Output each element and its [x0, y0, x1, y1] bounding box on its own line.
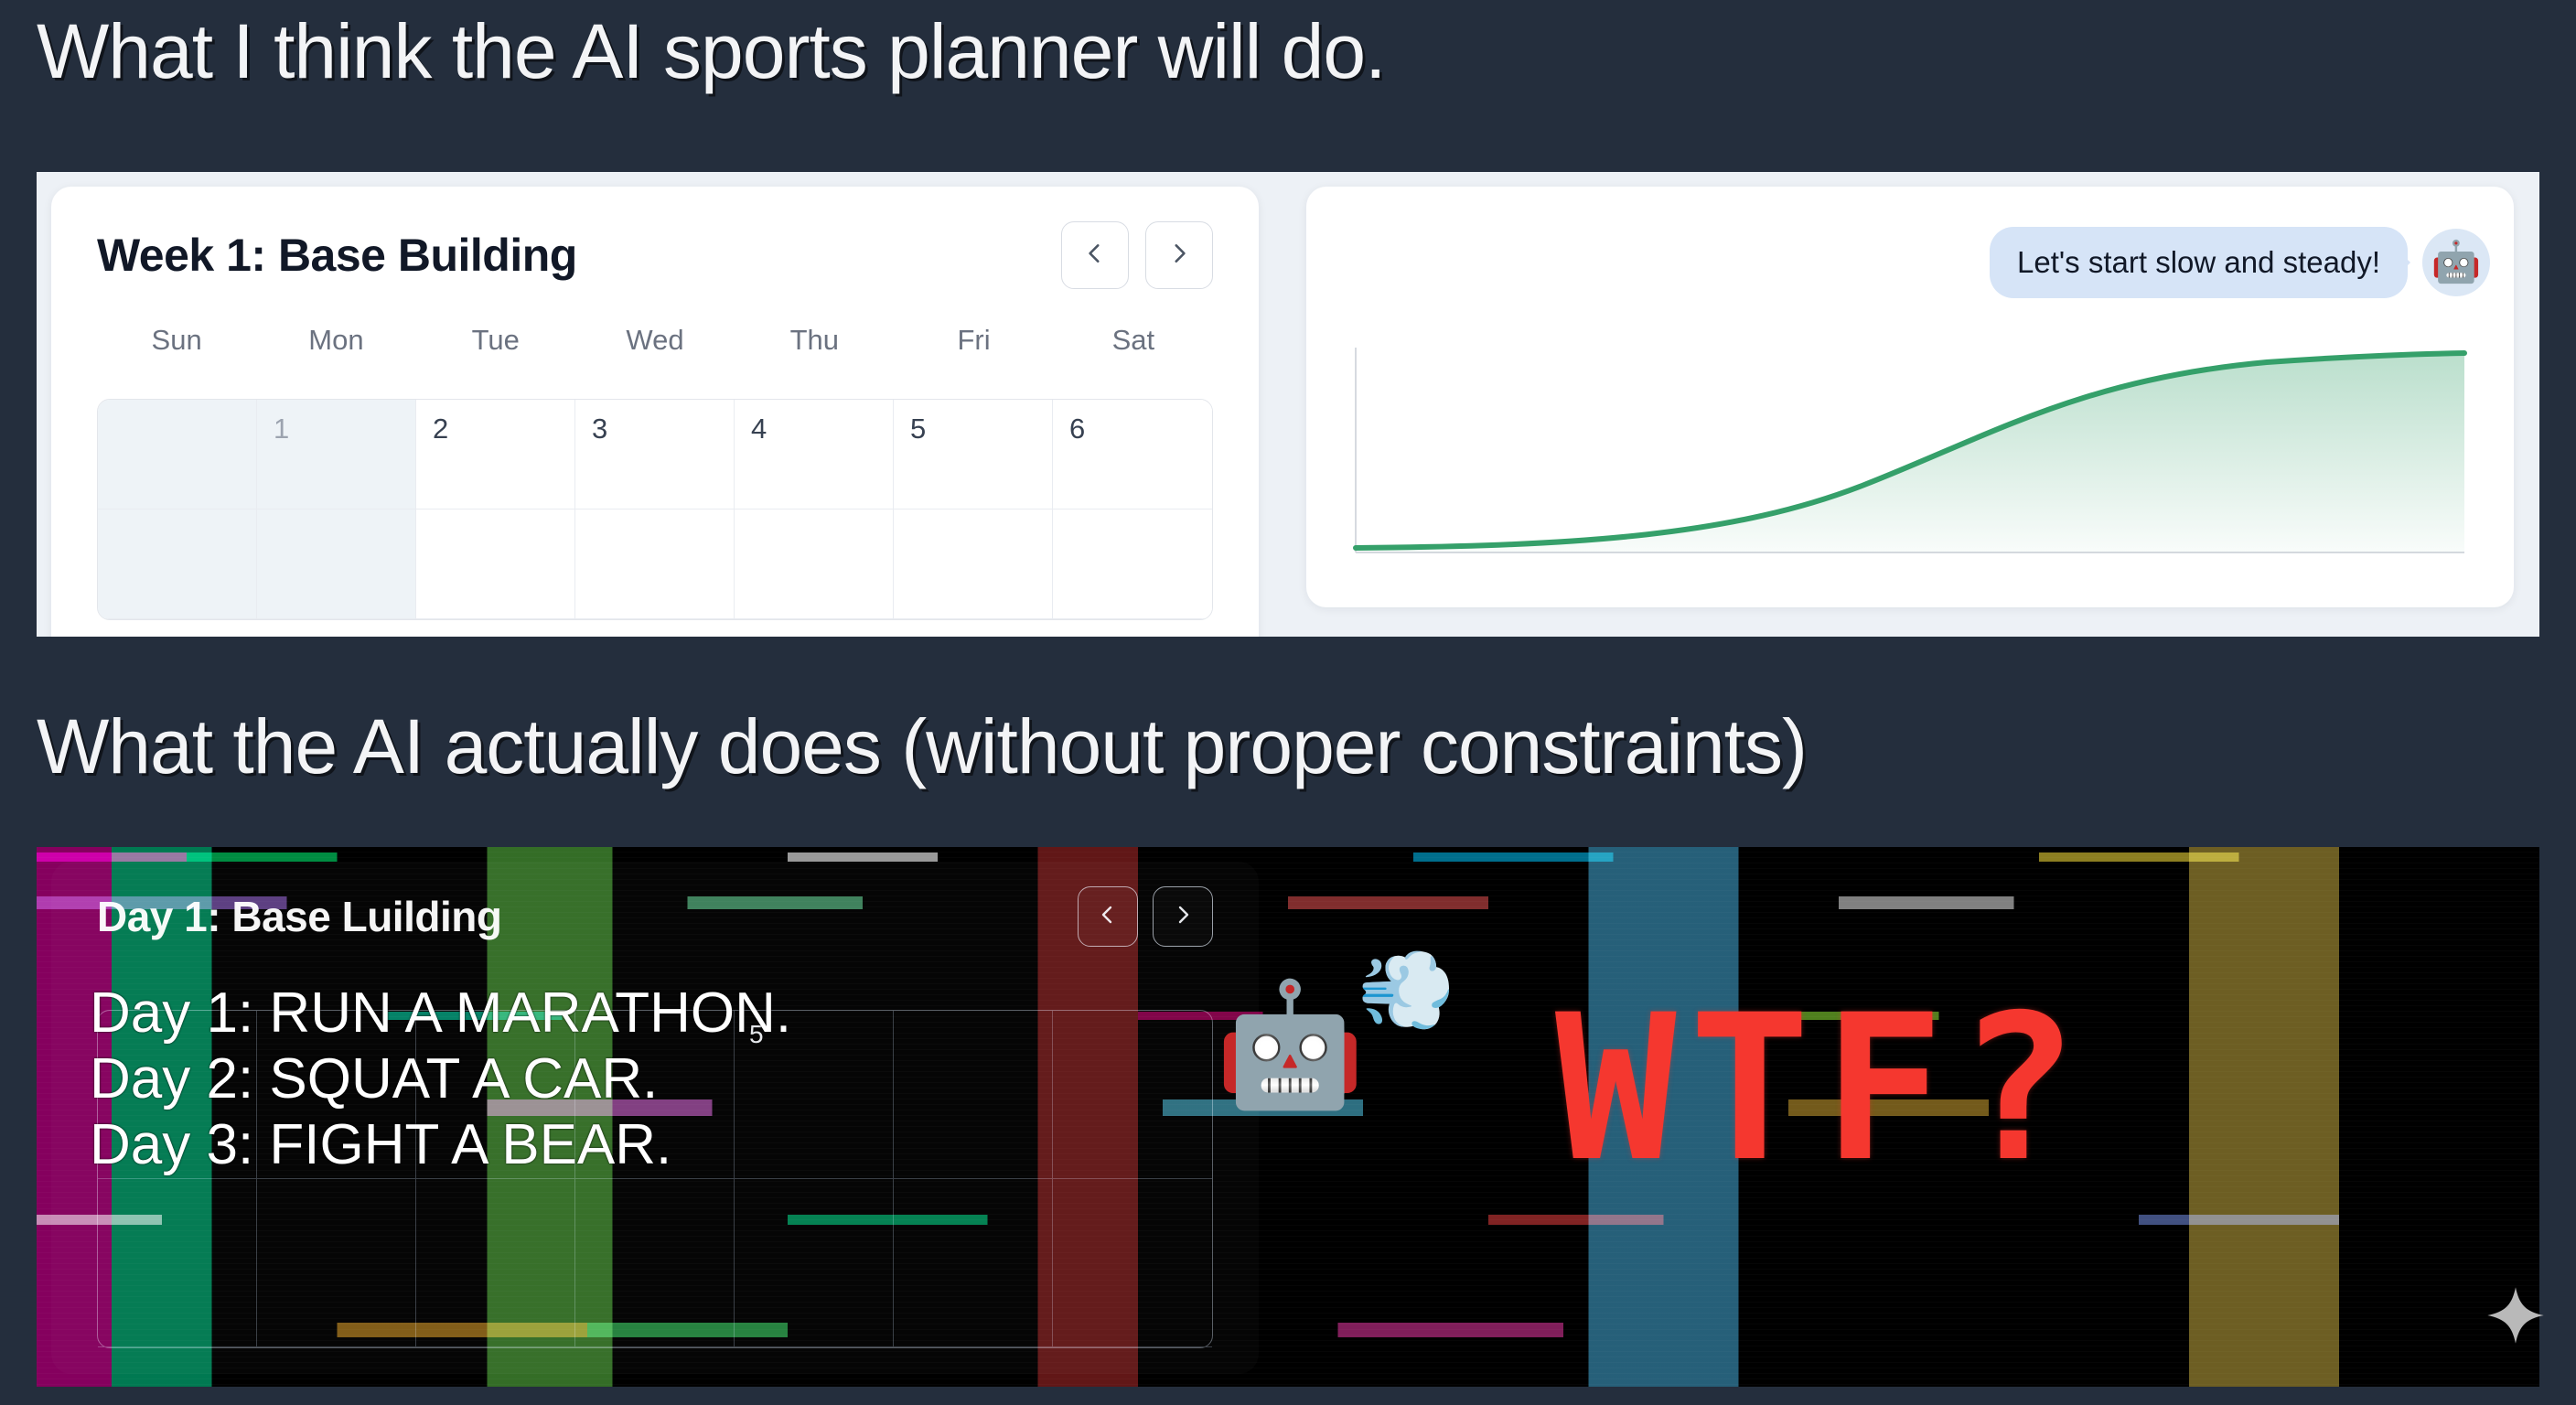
day-cell[interactable] — [575, 509, 735, 619]
day-cell[interactable] — [416, 509, 575, 619]
day-cell[interactable] — [894, 1179, 1053, 1347]
day-cell[interactable] — [1053, 509, 1212, 619]
calendar-nav-group — [1061, 221, 1213, 289]
day-cell[interactable]: 3 — [575, 400, 735, 509]
weekday-label: Wed — [575, 324, 735, 377]
chart-area-fill — [1356, 353, 2464, 552]
chevron-left-icon — [1097, 904, 1119, 930]
weekday-header-row: Sun Mon Tue Wed Thu Fri Sat — [97, 324, 1213, 377]
calendar-day-grid: 1 2 3 4 5 6 — [97, 399, 1213, 620]
weekday-label: Sat — [1054, 324, 1213, 377]
weekday-label: Fri — [894, 324, 1053, 377]
progress-chart-card: Let's start slow and steady! 🤖 — [1306, 187, 2514, 607]
robot-icon: 🤖 — [1215, 984, 1365, 1105]
training-progress-chart — [1352, 348, 2468, 563]
day-cell[interactable] — [894, 509, 1053, 619]
dash-smoke-icon: 💨 — [1358, 951, 1455, 1030]
day-cell[interactable] — [1053, 1179, 1212, 1347]
top-heading: What I think the AI sports planner will … — [37, 7, 1385, 96]
calendar-header: Week 1: Base Building — [51, 187, 1259, 324]
wtf-text: WTF? — [1555, 988, 2091, 1189]
day-cell[interactable] — [735, 509, 894, 619]
chevron-right-icon — [1172, 904, 1194, 930]
chevron-left-icon — [1083, 241, 1107, 270]
absurd-day-list: Day 1: RUN A MARATHON. Day 2: SQUAT A CA… — [90, 984, 791, 1182]
day-list-item: Day 1: RUN A MARATHON. — [90, 984, 791, 1043]
day-cell[interactable]: 4 — [735, 400, 894, 509]
glitch-scanline — [37, 853, 2539, 862]
day-cell[interactable] — [1053, 1011, 1212, 1179]
sparkle-icon — [2486, 1286, 2545, 1345]
weekday-label: Sun — [97, 324, 256, 377]
day-cell[interactable] — [894, 1011, 1053, 1179]
prev-week-button[interactable] — [1061, 221, 1129, 289]
weekday-label: Mon — [256, 324, 415, 377]
day-cell[interactable]: 5 — [894, 400, 1053, 509]
day-cell[interactable]: 1 — [257, 400, 416, 509]
meme-page: What I think the AI sports planner will … — [0, 0, 2576, 1405]
day-cell[interactable] — [257, 509, 416, 619]
glitched-nav-group — [1078, 886, 1213, 947]
robot-icon: 🤖 — [2422, 229, 2490, 296]
weekday-label: Tue — [416, 324, 575, 377]
assistant-chat-bubble: Let's start slow and steady! — [1990, 227, 2408, 298]
day-cell[interactable] — [735, 1179, 894, 1347]
glitched-calendar-title: Day 1: Base Luilding — [97, 892, 501, 941]
next-week-button[interactable] — [1145, 221, 1213, 289]
next-week-button[interactable] — [1153, 886, 1213, 947]
calendar-title: Week 1: Base Building — [97, 229, 577, 282]
weekday-label: Thu — [735, 324, 894, 377]
glitched-screenshot-panel: Day 1: Base Luilding — [37, 847, 2539, 1387]
bottom-heading: What the AI actually does (without prope… — [37, 702, 1807, 791]
assistant-message-row: Let's start slow and steady! 🤖 — [1990, 227, 2490, 298]
chevron-right-icon — [1167, 241, 1191, 270]
day-cell[interactable] — [98, 1179, 257, 1347]
day-cell[interactable] — [98, 400, 257, 509]
day-cell[interactable] — [416, 1179, 575, 1347]
prev-week-button[interactable] — [1078, 886, 1138, 947]
day-cell[interactable] — [98, 509, 257, 619]
calendar-card: Week 1: Base Building Sun — [51, 187, 1259, 637]
ideal-screenshot-panel: Week 1: Base Building Sun — [37, 172, 2539, 637]
day-list-item: Day 2: SQUAT A CAR. — [90, 1050, 791, 1109]
day-cell[interactable] — [575, 1179, 735, 1347]
day-cell[interactable]: 6 — [1053, 400, 1212, 509]
day-list-item: Day 3: FIGHT A BEAR. — [90, 1116, 791, 1174]
glitched-calendar-header: Day 1: Base Luilding — [51, 862, 1259, 971]
day-cell[interactable]: 2 — [416, 400, 575, 509]
day-cell[interactable] — [257, 1179, 416, 1347]
